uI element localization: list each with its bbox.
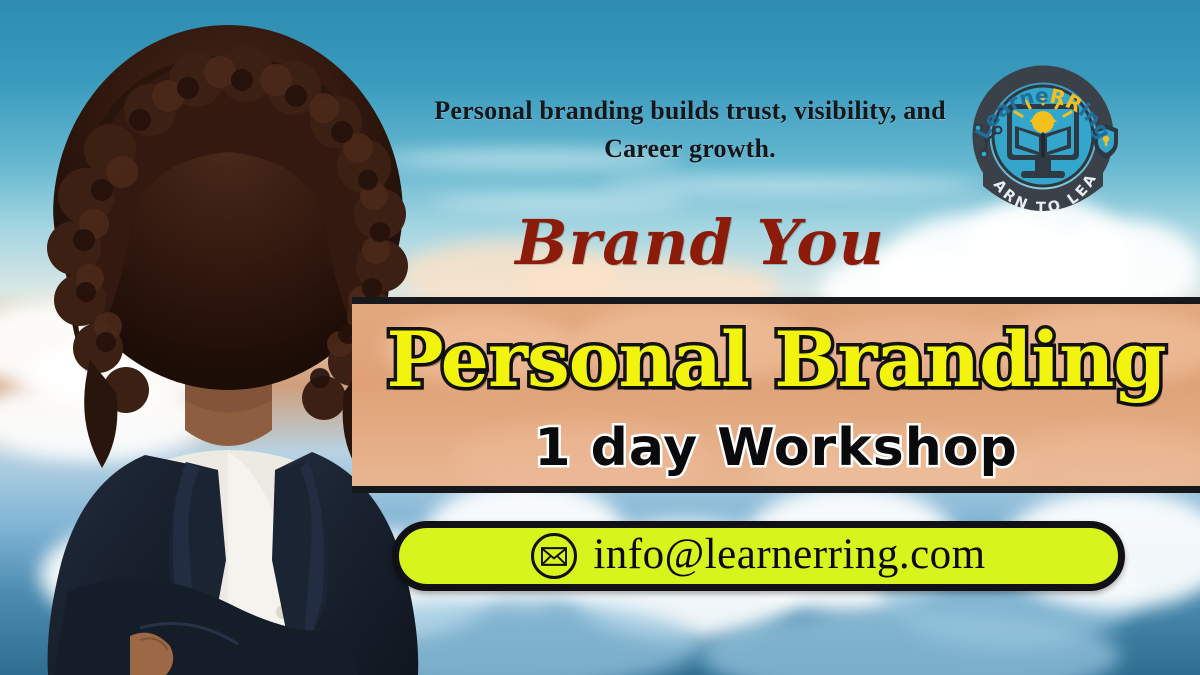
headline-subtitle: 1 day Workshop: [352, 422, 1200, 474]
tagline: Personal branding builds trust, visibili…: [410, 92, 970, 167]
tagline-line-2: Career growth.: [410, 130, 970, 168]
tagline-line-1: Personal branding builds trust, visibili…: [410, 92, 970, 130]
cumulus-cloud: [700, 610, 1120, 675]
brand-logo: LEARN TO LEAD LearneRRing: [963, 52, 1123, 227]
poster-canvas: Personal branding builds trust, visibili…: [0, 0, 1200, 675]
eyebrow-title: Brand You: [470, 206, 930, 279]
headline-title: Personal Branding: [352, 322, 1200, 398]
envelope-icon: [531, 533, 577, 579]
email-address: info@learnerring.com: [593, 533, 985, 580]
email-contact-pill[interactable]: info@learnerring.com: [392, 521, 1125, 591]
headline-band: Personal Branding 1 day Workshop: [352, 297, 1200, 493]
